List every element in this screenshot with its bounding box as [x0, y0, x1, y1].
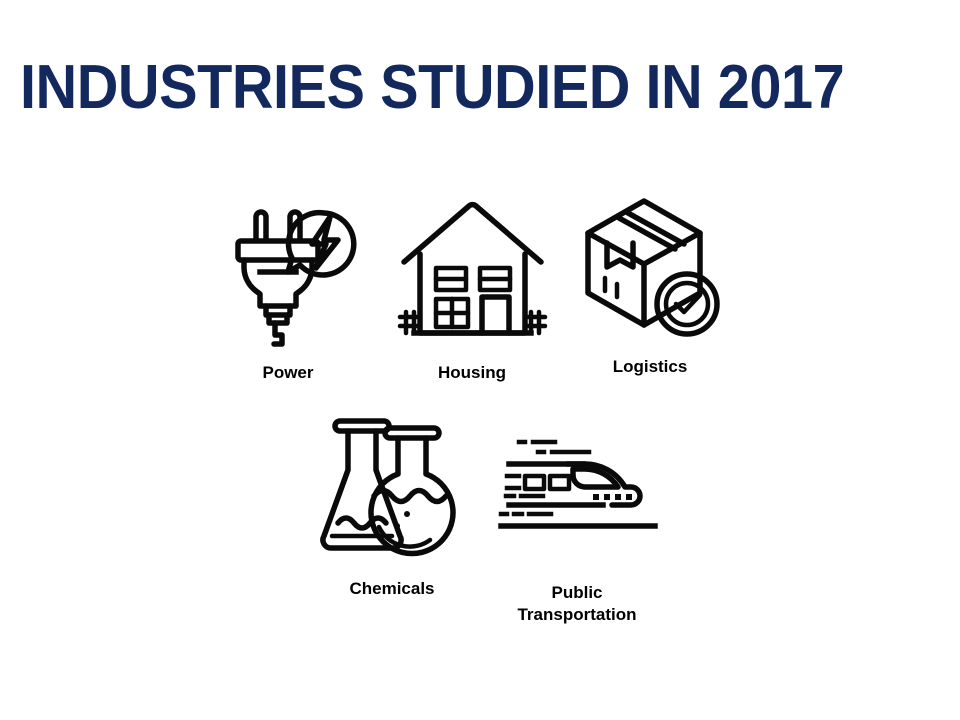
- industry-item-logistics[interactable]: Logistics: [570, 192, 730, 378]
- slide-canvas: INDUSTRIES STUDIED IN 2017 Power: [0, 0, 960, 720]
- package-box-check-icon: [574, 192, 726, 344]
- industry-label-public-transportation: Public Transportation: [497, 582, 657, 626]
- train-icon: [497, 432, 659, 538]
- electric-plug-icon: [212, 196, 364, 348]
- industry-item-chemicals[interactable]: Chemicals: [312, 410, 472, 600]
- industry-label-power: Power: [208, 362, 368, 384]
- industry-item-power[interactable]: Power: [208, 196, 368, 384]
- industry-item-public-transportation[interactable]: Public Transportation: [497, 432, 657, 626]
- lab-flasks-icon: [316, 410, 468, 562]
- industry-label-logistics: Logistics: [570, 356, 730, 378]
- house-icon: [396, 196, 548, 348]
- industry-item-housing[interactable]: Housing: [392, 196, 552, 384]
- industry-label-chemicals: Chemicals: [312, 578, 472, 600]
- page-title: INDUSTRIES STUDIED IN 2017: [20, 55, 877, 121]
- industry-label-housing: Housing: [392, 362, 552, 384]
